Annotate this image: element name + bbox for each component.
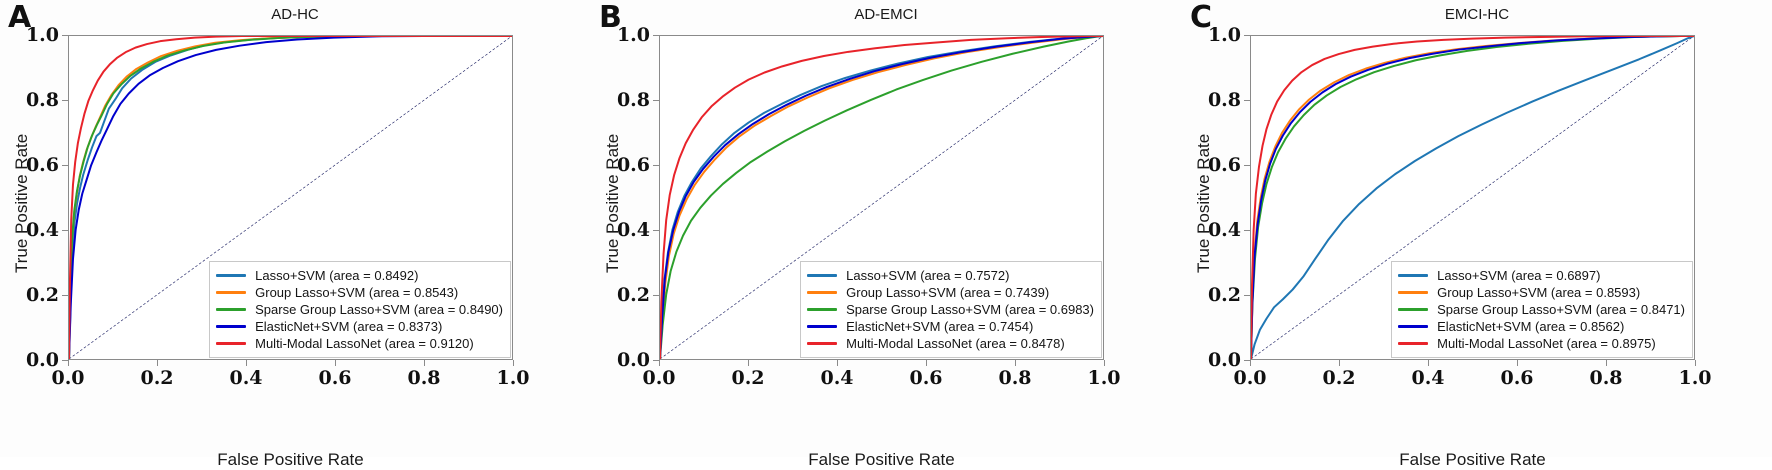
panel-a-xlabel: False Positive Rate — [68, 450, 513, 470]
panel-b-ytickmark-3 — [653, 165, 659, 166]
panel-a-xtick-3: 0.6 — [318, 367, 351, 389]
panel-c-ytickmark-1 — [1244, 295, 1250, 296]
panel-a-legend-row-3: ElasticNet+SVM (area = 0.8373) — [216, 318, 503, 335]
legend-swatch-icon — [807, 291, 837, 294]
panel-c-ytickmark-3 — [1244, 165, 1250, 166]
panel-c-ytickmark-5 — [1244, 35, 1250, 36]
panel-a-ytickmark-3 — [62, 165, 68, 166]
legend-swatch-icon — [216, 308, 246, 311]
panel-b-title: AD-EMCI — [591, 6, 1181, 23]
panel-a-xtick-0: 0.0 — [51, 367, 84, 389]
panel-c-xtick-0: 0.0 — [1233, 367, 1266, 389]
panel-a-ytick-1: 0.2 — [26, 284, 59, 306]
panel-c-legend-row-0: Lasso+SVM (area = 0.6897) — [1398, 267, 1685, 284]
panel-b-ytick-3: 0.6 — [617, 154, 650, 176]
panel-b-xlabel: False Positive Rate — [659, 450, 1104, 470]
panel-c-xtick-3: 0.6 — [1500, 367, 1533, 389]
panel-a-legend-row-0: Lasso+SVM (area = 0.8492) — [216, 267, 503, 284]
panel-a-ytickmark-2 — [62, 230, 68, 231]
legend-swatch-icon — [1398, 291, 1428, 294]
panel-a-xtickmark-0 — [68, 360, 69, 366]
panel-b-ytick-2: 0.4 — [617, 219, 650, 241]
panel-a-plot: True Positive Rate False Positive Rate L… — [68, 35, 513, 360]
panel-a-legend-label-4: Multi-Modal LassoNet (area = 0.9120) — [255, 335, 474, 352]
panel-b-ytick-1: 0.2 — [617, 284, 650, 306]
panel-c-legend-row-3: ElasticNet+SVM (area = 0.8562) — [1398, 318, 1685, 335]
panel-b-legend-label-0: Lasso+SVM (area = 0.7572) — [846, 267, 1009, 284]
panel-c-legend-label-0: Lasso+SVM (area = 0.6897) — [1437, 267, 1600, 284]
panel-b-legend-label-2: Sparse Group Lasso+SVM (area = 0.6983) — [846, 301, 1094, 318]
legend-swatch-icon — [216, 291, 246, 294]
panel-b-xtick-4: 0.8 — [998, 367, 1031, 389]
panel-a-ytick-2: 0.4 — [26, 219, 59, 241]
panel-b: B AD-EMCI True Positive Rate False Posit… — [591, 0, 1181, 457]
panel-c-xtickmark-2 — [1428, 360, 1429, 366]
panel-b-ytick-5: 1.0 — [617, 24, 650, 46]
panel-b-plot: True Positive Rate False Positive Rate L… — [659, 35, 1104, 360]
panel-b-xtickmark-1 — [748, 360, 749, 366]
legend-swatch-icon — [807, 274, 837, 277]
panel-b-ytickmark-5 — [653, 35, 659, 36]
panel-c-xtick-5: 1.0 — [1678, 367, 1711, 389]
panel-b-xtickmark-4 — [1015, 360, 1016, 366]
panel-a-legend-row-1: Group Lasso+SVM (area = 0.8543) — [216, 284, 503, 301]
panel-c-xtickmark-3 — [1517, 360, 1518, 366]
roc-figure: A AD-HC True Positive Rate False Positiv… — [0, 0, 1772, 457]
panel-b-xtickmark-3 — [926, 360, 927, 366]
panel-b-xtick-0: 0.0 — [642, 367, 675, 389]
panel-a-ytickmark-1 — [62, 295, 68, 296]
panel-a-xtick-1: 0.2 — [140, 367, 173, 389]
panel-a-ytick-4: 0.8 — [26, 89, 59, 111]
panel-b-ytickmark-4 — [653, 100, 659, 101]
legend-swatch-icon — [216, 274, 246, 277]
panel-a-legend: Lasso+SVM (area = 0.8492)Group Lasso+SVM… — [209, 261, 511, 358]
panel-a-legend-label-1: Group Lasso+SVM (area = 0.8543) — [255, 284, 458, 301]
panel-b-ytickmark-2 — [653, 230, 659, 231]
panel-c-title: EMCI-HC — [1182, 6, 1772, 23]
legend-swatch-icon — [1398, 308, 1428, 311]
panel-a-xtick-4: 0.8 — [407, 367, 440, 389]
panel-c-legend: Lasso+SVM (area = 0.6897)Group Lasso+SVM… — [1391, 261, 1693, 358]
panel-b-xtickmark-2 — [837, 360, 838, 366]
legend-swatch-icon — [807, 342, 837, 345]
panel-c-ytick-5: 1.0 — [1208, 24, 1241, 46]
panel-c-xtickmark-1 — [1339, 360, 1340, 366]
panel-c-xtickmark-4 — [1606, 360, 1607, 366]
panel-c-xtick-2: 0.4 — [1411, 367, 1444, 389]
panel-b-legend: Lasso+SVM (area = 0.7572)Group Lasso+SVM… — [800, 261, 1102, 358]
panel-b-legend-row-0: Lasso+SVM (area = 0.7572) — [807, 267, 1094, 284]
panel-a-xtickmark-4 — [424, 360, 425, 366]
panel-b-xtick-5: 1.0 — [1087, 367, 1120, 389]
panel-b-legend-row-4: Multi-Modal LassoNet (area = 0.8478) — [807, 335, 1094, 352]
panel-b-legend-row-2: Sparse Group Lasso+SVM (area = 0.6983) — [807, 301, 1094, 318]
panel-c-legend-label-4: Multi-Modal LassoNet (area = 0.8975) — [1437, 335, 1656, 352]
panel-c-ytickmark-2 — [1244, 230, 1250, 231]
panel-a-legend-label-3: ElasticNet+SVM (area = 0.8373) — [255, 318, 442, 335]
panel-b-ytickmark-1 — [653, 295, 659, 296]
panel-c-legend-row-4: Multi-Modal LassoNet (area = 0.8975) — [1398, 335, 1685, 352]
panel-a-legend-row-4: Multi-Modal LassoNet (area = 0.9120) — [216, 335, 503, 352]
panel-a-xtick-2: 0.4 — [229, 367, 262, 389]
legend-swatch-icon — [216, 325, 246, 328]
panel-b-xtickmark-5 — [1104, 360, 1105, 366]
panel-c-ytickmark-4 — [1244, 100, 1250, 101]
panel-c-ytick-2: 0.4 — [1208, 219, 1241, 241]
panel-c-legend-row-2: Sparse Group Lasso+SVM (area = 0.8471) — [1398, 301, 1685, 318]
legend-swatch-icon — [1398, 325, 1428, 328]
panel-a-ytickmark-5 — [62, 35, 68, 36]
panel-b-xtick-3: 0.6 — [909, 367, 942, 389]
panel-b-xtickmark-0 — [659, 360, 660, 366]
panel-c-ytick-1: 0.2 — [1208, 284, 1241, 306]
legend-swatch-icon — [1398, 274, 1428, 277]
panel-a-xtick-5: 1.0 — [496, 367, 529, 389]
panel-b-legend-row-1: Group Lasso+SVM (area = 0.7439) — [807, 284, 1094, 301]
panel-a-ytickmark-4 — [62, 100, 68, 101]
panel-a-ytick-3: 0.6 — [26, 154, 59, 176]
panel-b-legend-label-3: ElasticNet+SVM (area = 0.7454) — [846, 318, 1033, 335]
panel-c-xtick-1: 0.2 — [1322, 367, 1355, 389]
panel-c-xtickmark-5 — [1695, 360, 1696, 366]
panel-a-title: AD-HC — [0, 6, 590, 23]
panel-c-xtick-4: 0.8 — [1589, 367, 1622, 389]
panel-c: C EMCI-HC True Positive Rate False Posit… — [1182, 0, 1772, 457]
panel-a-xtickmark-1 — [157, 360, 158, 366]
legend-swatch-icon — [1398, 342, 1428, 345]
panel-c-plot: True Positive Rate False Positive Rate L… — [1250, 35, 1695, 360]
panel-a-legend-label-0: Lasso+SVM (area = 0.8492) — [255, 267, 418, 284]
panel-b-ytick-4: 0.8 — [617, 89, 650, 111]
panel-a-legend-label-2: Sparse Group Lasso+SVM (area = 0.8490) — [255, 301, 503, 318]
panel-b-legend-row-3: ElasticNet+SVM (area = 0.7454) — [807, 318, 1094, 335]
legend-swatch-icon — [216, 342, 246, 345]
panel-a-ytick-5: 1.0 — [26, 24, 59, 46]
panel-a-xtickmark-2 — [246, 360, 247, 366]
panel-b-legend-label-1: Group Lasso+SVM (area = 0.7439) — [846, 284, 1049, 301]
panel-b-xtick-2: 0.4 — [820, 367, 853, 389]
legend-swatch-icon — [807, 308, 837, 311]
panel-b-legend-label-4: Multi-Modal LassoNet (area = 0.8478) — [846, 335, 1065, 352]
panel-a-legend-row-2: Sparse Group Lasso+SVM (area = 0.8490) — [216, 301, 503, 318]
panel-c-legend-label-3: ElasticNet+SVM (area = 0.8562) — [1437, 318, 1624, 335]
legend-swatch-icon — [807, 325, 837, 328]
panel-c-legend-label-1: Group Lasso+SVM (area = 0.8593) — [1437, 284, 1640, 301]
panel-a: A AD-HC True Positive Rate False Positiv… — [0, 0, 590, 457]
panel-b-xtick-1: 0.2 — [731, 367, 764, 389]
panel-c-xtickmark-0 — [1250, 360, 1251, 366]
panel-a-xtickmark-3 — [335, 360, 336, 366]
panel-a-xtickmark-5 — [513, 360, 514, 366]
panel-c-ytick-4: 0.8 — [1208, 89, 1241, 111]
panel-c-legend-row-1: Group Lasso+SVM (area = 0.8593) — [1398, 284, 1685, 301]
panel-c-ytick-3: 0.6 — [1208, 154, 1241, 176]
panel-c-legend-label-2: Sparse Group Lasso+SVM (area = 0.8471) — [1437, 301, 1685, 318]
panel-c-xlabel: False Positive Rate — [1250, 450, 1695, 470]
